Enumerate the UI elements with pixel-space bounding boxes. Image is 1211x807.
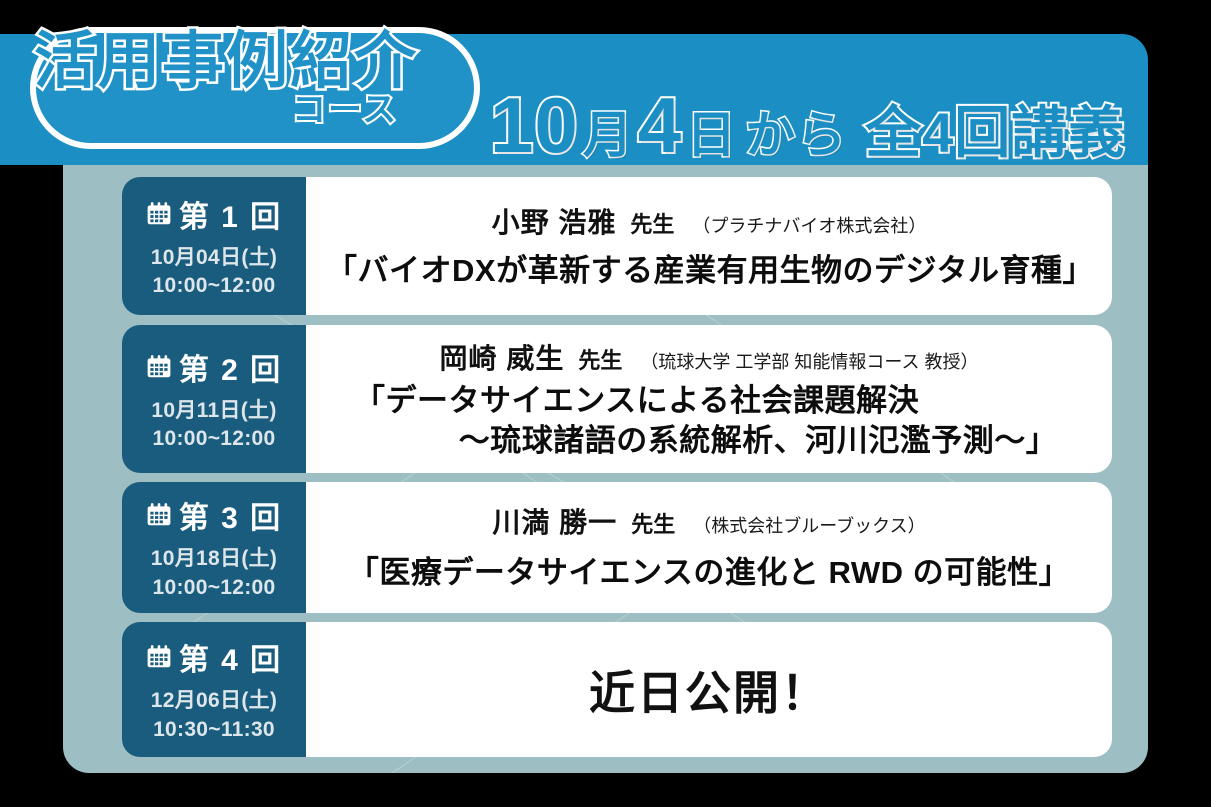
session-number-label: 第 3 回 (179, 493, 282, 537)
speaker-affiliation: （株式会社ブルーブックス） (693, 512, 925, 538)
speaker-line: 川満 勝一 先生 （株式会社ブルーブックス） (326, 501, 1092, 541)
session-title-line1: 「バイオDXが革新する産業有用生物のデジタル育種」 (326, 253, 1094, 288)
speaker-honorific: 先生 (631, 507, 675, 539)
session-number-label: 第 1 回 (179, 192, 282, 236)
banner-day-unit: 日 (686, 110, 737, 160)
session-time: 10:00~12:00 (153, 425, 276, 453)
speaker-name: 岡崎 威生 (440, 337, 565, 377)
session-row: 第 4 回 12月06日(土) 10:30~11:30 近日公開！ (122, 622, 1112, 757)
session-row: 第 3 回 10月18日(土) 10:00~12:00 川満 勝一 先生 （株式… (122, 482, 1112, 613)
banner-from-label: から (745, 110, 847, 160)
session-content-card: 川満 勝一 先生 （株式会社ブルーブックス） 「医療データサイエンスの進化と R… (306, 482, 1112, 613)
course-badge-subtitle: コース (292, 82, 398, 131)
speaker-line: 岡崎 威生 先生 （琉球大学 工学部 知能情報コース 教授） (326, 337, 1092, 377)
session-time: 10:00~12:00 (153, 574, 276, 602)
session-date: 10月18日(土) (151, 545, 277, 573)
speaker-honorific: 先生 (630, 207, 674, 239)
calendar-icon (146, 354, 172, 380)
session-date-box: 第 2 回 10月11日(土) 10:00~12:00 (122, 325, 306, 473)
session-title: 「データサイエンスによる社会課題解決 〜琉球諸語の系統解析、河川氾濫予測〜」 (326, 381, 1092, 462)
session-number-heading: 第 3 回 (146, 493, 282, 537)
speaker-affiliation: （琉球大学 工学部 知能情報コース 教授） (640, 348, 978, 374)
session-row: 第 1 回 10月04日(土) 10:00~12:00 小野 浩雅 先生 （プラ… (122, 177, 1112, 315)
session-content-card: 近日公開！ (306, 622, 1112, 757)
session-content-card: 小野 浩雅 先生 （プラチナバイオ株式会社） 「バイオDXが革新する産業有用生物… (306, 177, 1112, 315)
session-date: 10月04日(土) (151, 244, 277, 272)
speaker-name: 川満 勝一 (492, 501, 617, 541)
banner-month-unit: 月 (583, 110, 634, 160)
session-number-label: 第 4 回 (179, 635, 282, 679)
speaker-name: 小野 浩雅 (492, 201, 617, 241)
session-date: 10月11日(土) (151, 397, 276, 425)
session-time: 10:00~12:00 (153, 272, 276, 300)
speaker-honorific: 先生 (578, 343, 622, 375)
session-date: 12月06日(土) (151, 687, 277, 715)
session-title: 「バイオDXが革新する産業有用生物のデジタル育種」 (326, 251, 1092, 291)
session-row: 第 2 回 10月11日(土) 10:00~12:00 岡崎 威生 先生 （琉球… (122, 325, 1112, 473)
banner-session-count: 全4回講義 (865, 105, 1125, 161)
session-number-heading: 第 2 回 (146, 345, 282, 389)
session-title: 「医療データサイエンスの進化と RWD の可能性」 (326, 553, 1092, 593)
calendar-icon (146, 502, 172, 528)
session-time: 10:30~11:30 (153, 716, 275, 744)
session-date-box: 第 3 回 10月18日(土) 10:00~12:00 (122, 482, 306, 613)
banner-date-text: 10 月 4 日 から 全4回講義 (490, 86, 1125, 184)
session-title-line1: 「データサイエンスによる社会課題解決 (354, 383, 919, 418)
speaker-line: 小野 浩雅 先生 （プラチナバイオ株式会社） (326, 201, 1092, 241)
session-title-line2: 〜琉球諸語の系統解析、河川氾濫予測〜」 (354, 421, 1092, 461)
calendar-icon (146, 644, 172, 670)
session-date-box: 第 1 回 10月04日(土) 10:00~12:00 (122, 177, 306, 315)
coming-soon-label: 近日公開！ (326, 657, 1092, 723)
banner-day-number: 4 (638, 86, 682, 164)
session-content-card: 岡崎 威生 先生 （琉球大学 工学部 知能情報コース 教授） 「データサイエンス… (306, 325, 1112, 473)
poster-root: 10 月 4 日 から 全4回講義 活用事例紹介 コース (0, 0, 1211, 807)
banner-month-number: 10 (490, 86, 579, 164)
session-number-heading: 第 1 回 (146, 192, 282, 236)
session-title-line1: 「医療データサイエンスの進化と RWD の可能性」 (348, 555, 1070, 590)
session-date-box: 第 4 回 12月06日(土) 10:30~11:30 (122, 622, 306, 757)
calendar-icon (146, 201, 172, 227)
session-number-label: 第 2 回 (179, 345, 282, 389)
session-number-heading: 第 4 回 (146, 635, 282, 679)
speaker-affiliation: （プラチナバイオ株式会社） (692, 212, 926, 238)
